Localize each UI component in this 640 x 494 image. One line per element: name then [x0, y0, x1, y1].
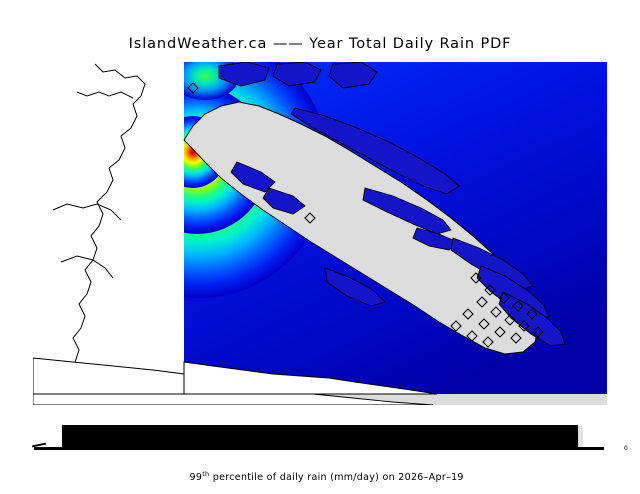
colorbar-fill	[62, 425, 578, 448]
page-title: IslandWeather.ca —— Year Total Daily Rai…	[0, 36, 640, 52]
caption-prefix: 99	[190, 472, 203, 483]
map-panel[interactable]	[33, 62, 607, 405]
map-composite	[33, 62, 607, 405]
colorbar-caption: 99th percentile of daily rain (mm/day) o…	[0, 459, 640, 494]
colorbar-end-label: 0	[624, 445, 628, 452]
colorbar-edge	[578, 426, 583, 448]
colorbar-axis-line	[34, 447, 604, 450]
figure-root: IslandWeather.ca —— Year Total Daily Rai…	[0, 0, 640, 480]
caption-suffix: percentile of daily rain (mm/day) on 202…	[209, 472, 463, 483]
colorbar[interactable]: 0	[62, 425, 578, 449]
